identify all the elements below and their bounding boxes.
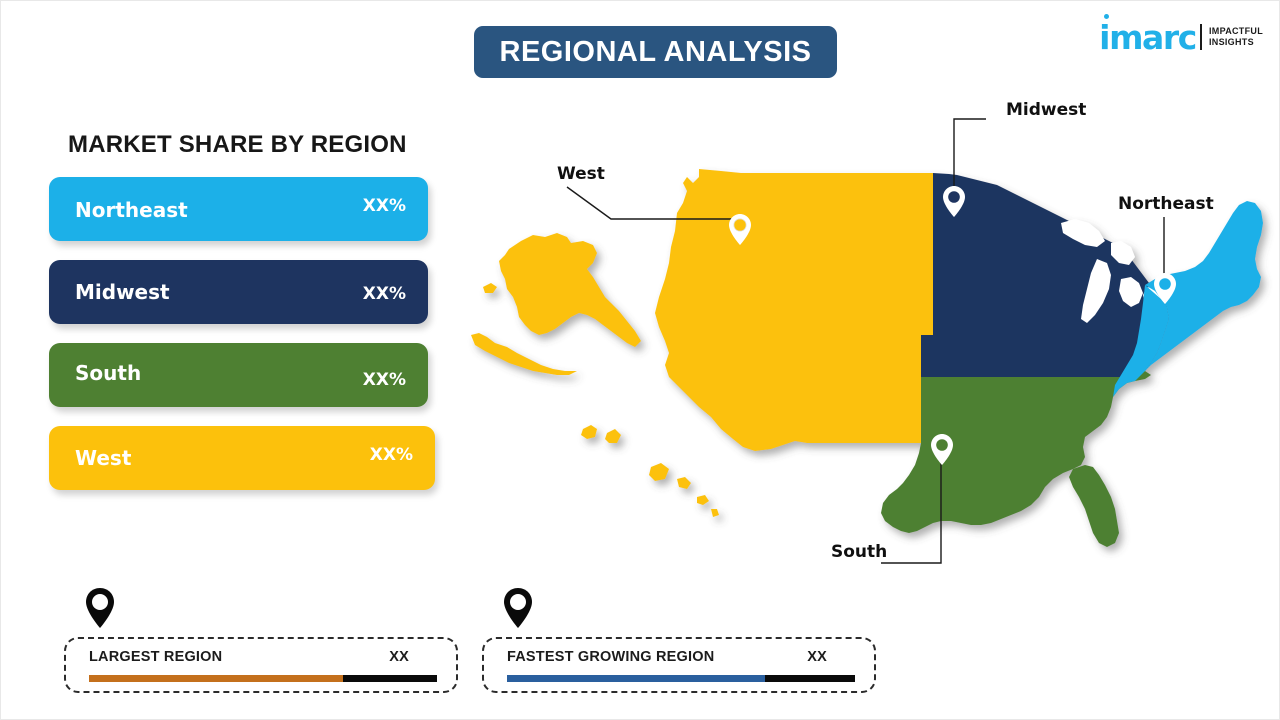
map-landmasses: [471, 169, 1263, 547]
map-callout-midwest: Midwest: [1006, 100, 1086, 120]
kpi-largest-region-track: [89, 675, 437, 682]
logo-tagline-line2: INSIGHTS: [1209, 37, 1263, 48]
imarc-logo: imarc IMPACTFUL INSIGHTS: [1099, 17, 1263, 57]
map-region-alaska[interactable]: [471, 233, 641, 375]
region-bar-midwest-label: Midwest: [75, 280, 170, 304]
logo-dot-icon: [1104, 14, 1109, 19]
logo-wordmark-text: imarc: [1099, 18, 1196, 57]
region-bar-west-label: West: [75, 446, 131, 470]
map-pin-icon: [84, 587, 116, 629]
map-region-florida[interactable]: [1069, 465, 1119, 547]
region-bar-south-label: South: [75, 361, 141, 385]
region-bar-south-value: XX%: [363, 370, 406, 390]
kpi-largest-region-value: XX: [389, 649, 409, 665]
kpi-fastest-growing-region-box: FASTEST GROWING REGION XX: [482, 637, 876, 693]
region-bar-west-value: XX%: [370, 445, 413, 465]
map-pin-icon: [502, 587, 534, 629]
us-map-svg: [421, 91, 1280, 571]
map-callout-west: West: [557, 164, 605, 184]
page-title-banner: REGIONAL ANALYSIS: [474, 26, 837, 78]
kpi-largest-region-box: LARGEST REGION XX: [64, 637, 458, 693]
us-regional-map: [421, 91, 1280, 571]
market-share-panel: MARKET SHARE BY REGION Northeast XX% Mid…: [49, 131, 449, 509]
page-title: REGIONAL ANALYSIS: [500, 38, 812, 67]
kpi-largest-region-label: LARGEST REGION: [89, 649, 222, 665]
market-share-heading: MARKET SHARE BY REGION: [68, 131, 449, 159]
map-callout-northeast: Northeast: [1118, 194, 1214, 214]
kpi-fastest-growing-region-fill: [507, 675, 765, 682]
kpi-fastest-growing-region-row: FASTEST GROWING REGION XX: [507, 649, 855, 665]
logo-tagline-line1: IMPACTFUL: [1209, 26, 1263, 37]
region-bar-south[interactable]: South XX%: [49, 343, 428, 407]
region-bar-northeast-label: Northeast: [75, 198, 188, 222]
kpi-fastest-growing-region-value: XX: [807, 649, 827, 665]
map-region-hawaii[interactable]: [581, 425, 719, 517]
kpi-fastest-growing-region-track: [507, 675, 855, 682]
kpi-largest-region-fill: [89, 675, 343, 682]
map-region-west[interactable]: [655, 169, 933, 451]
logo-wordmark: imarc: [1099, 21, 1196, 54]
region-bar-west[interactable]: West XX%: [49, 426, 435, 490]
region-bar-northeast[interactable]: Northeast XX%: [49, 177, 428, 241]
region-bar-midwest-value: XX%: [363, 284, 406, 304]
logo-divider: [1200, 24, 1202, 50]
map-callout-south: South: [831, 542, 887, 562]
logo-tagline: IMPACTFUL INSIGHTS: [1209, 26, 1263, 49]
kpi-fastest-growing-region-label: FASTEST GROWING REGION: [507, 649, 714, 665]
region-bar-midwest[interactable]: Midwest XX%: [49, 260, 428, 324]
region-bar-northeast-value: XX%: [363, 196, 406, 216]
kpi-largest-region-row: LARGEST REGION XX: [89, 649, 437, 665]
